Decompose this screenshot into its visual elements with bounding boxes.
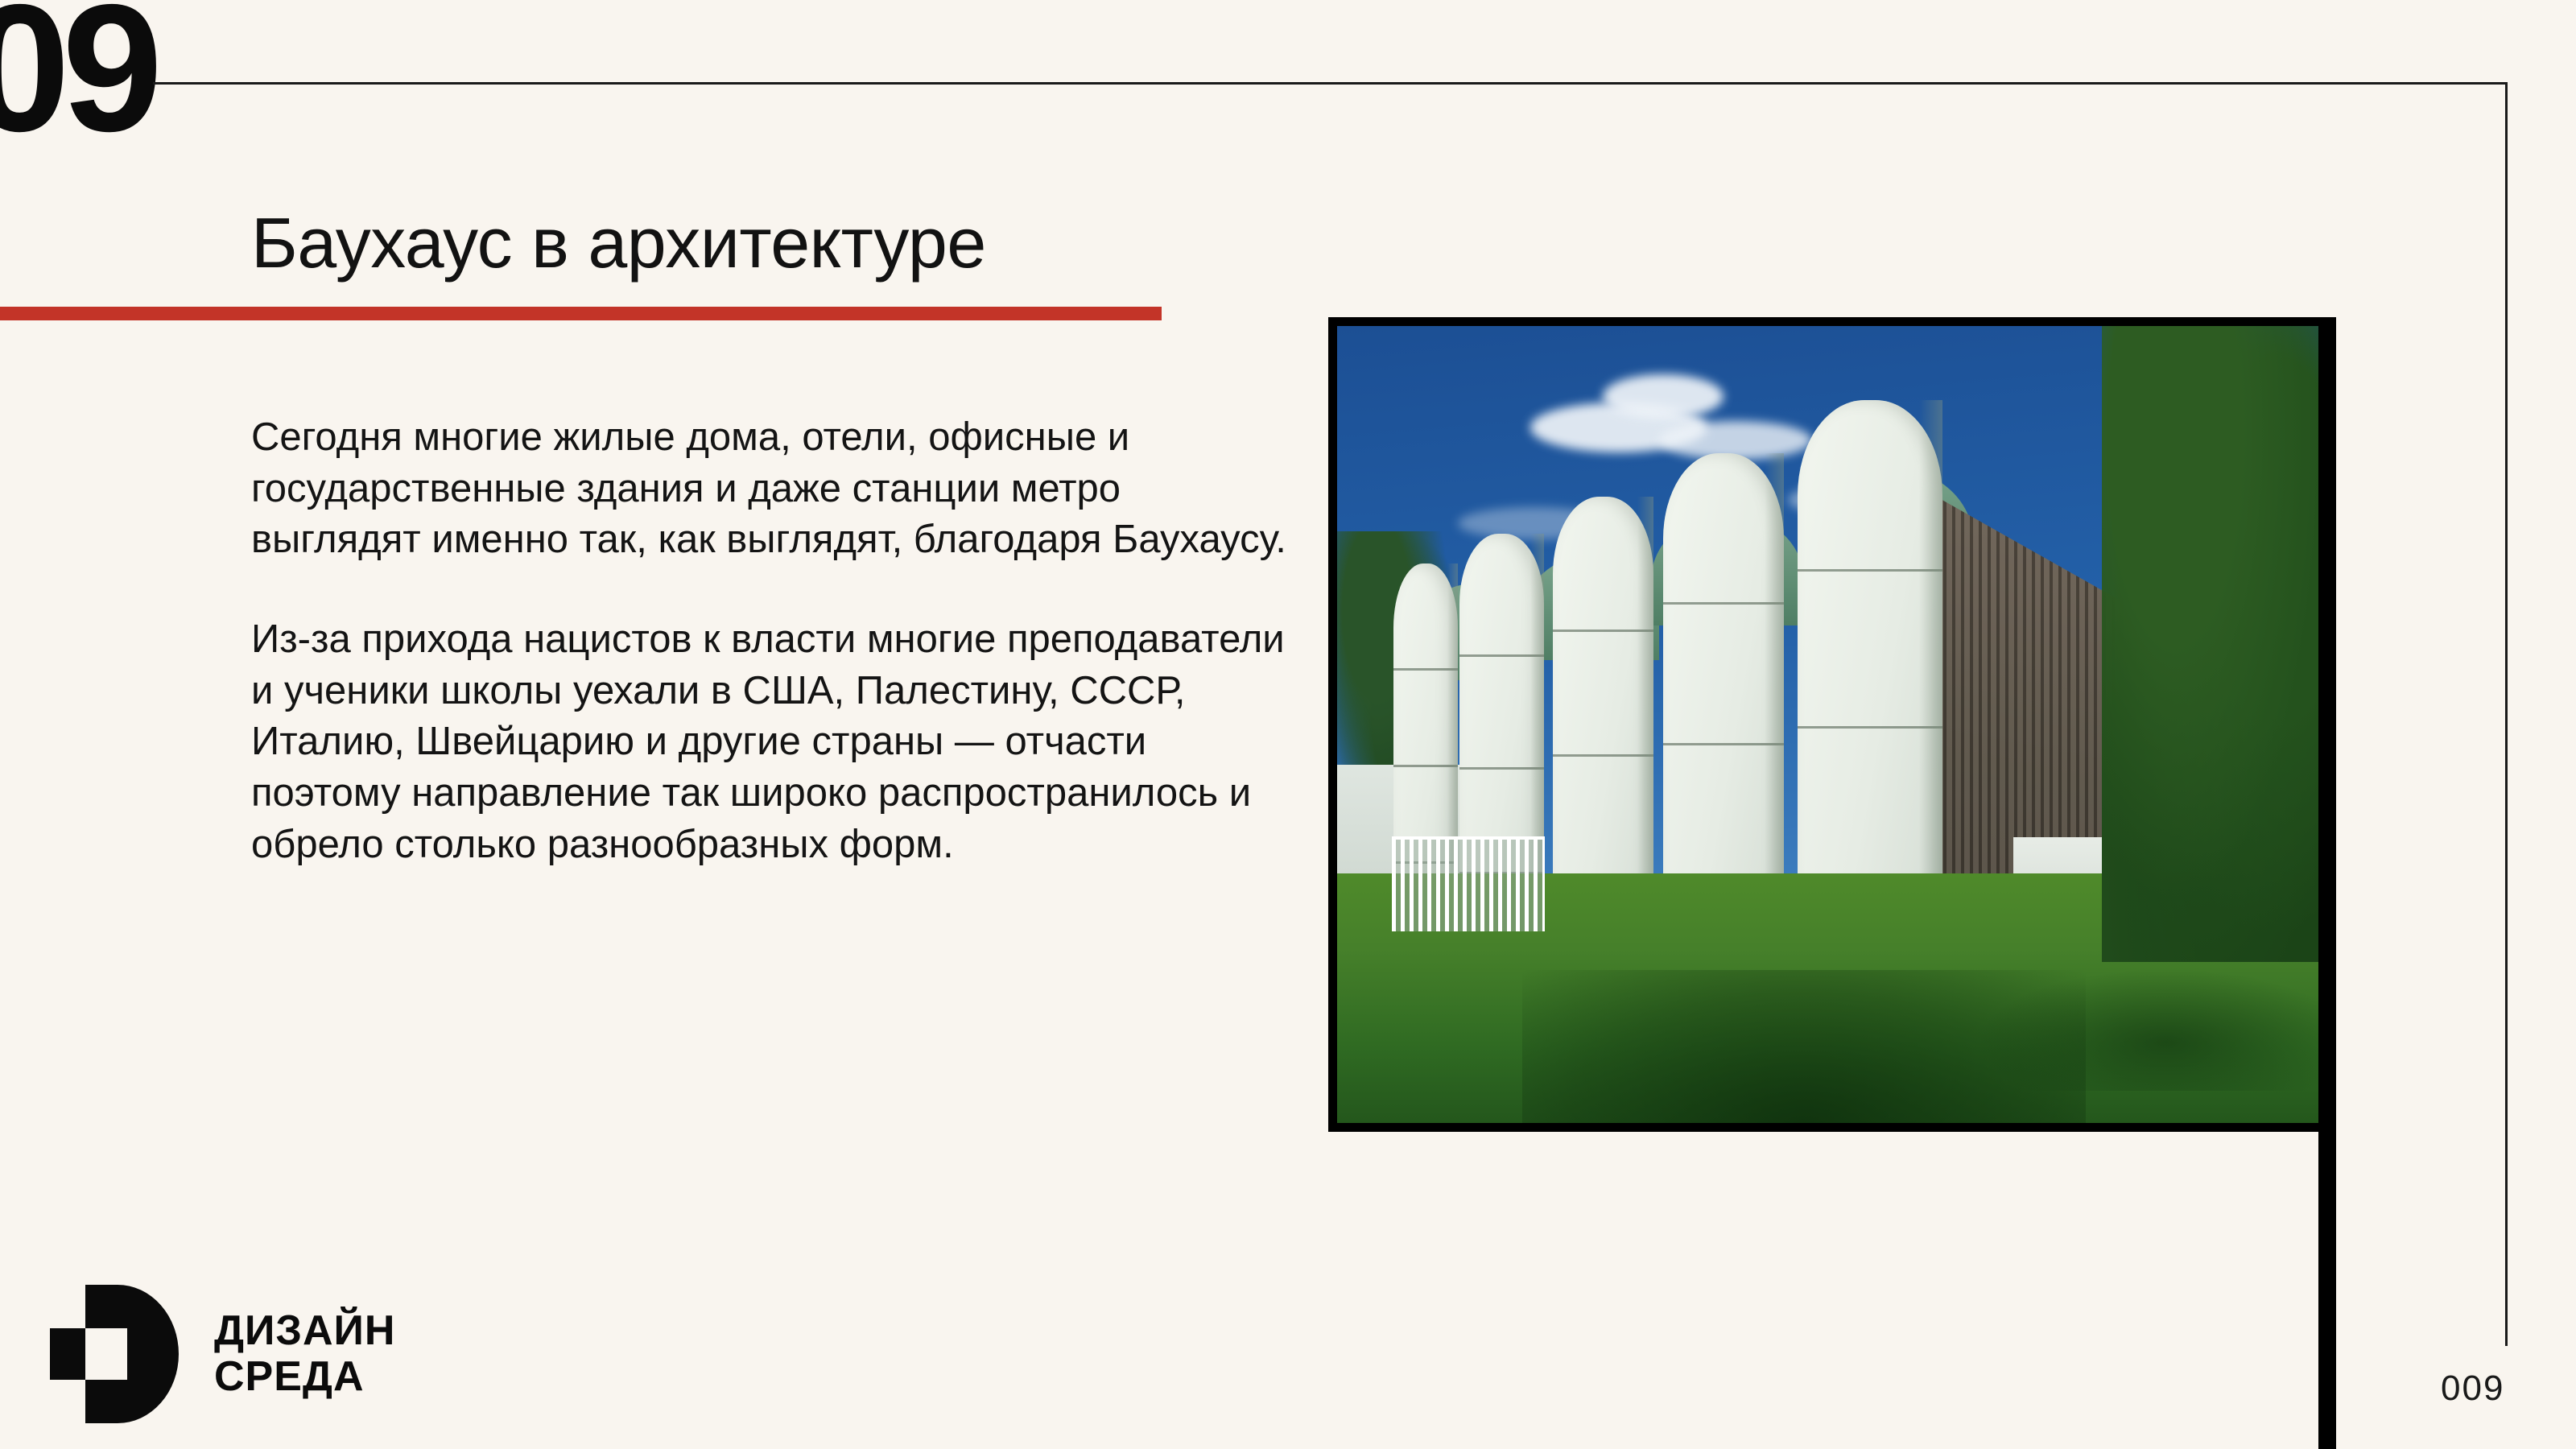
tree-right — [2102, 326, 2327, 962]
paragraph: Сегодня многие жилые дома, отели, офисны… — [251, 412, 1290, 566]
page-title: Баухаус в архитектуре — [251, 206, 986, 280]
slide-number-large: 09 — [0, 0, 155, 159]
frame-top-rule — [153, 82, 2508, 85]
brand-logo: ДИЗАЙН СРЕДА — [50, 1285, 395, 1423]
cloud — [1603, 374, 1724, 419]
brand-logo-text: ДИЗАЙН СРЕДА — [214, 1308, 395, 1400]
white-fence — [1392, 836, 1545, 931]
bauhaus-archive-photo — [1337, 326, 2327, 1123]
brand-logo-line1: ДИЗАЙН — [214, 1308, 395, 1354]
lawn-shadow — [1981, 970, 2327, 1091]
slide-root: 09 Баухаус в архитектуре Сегодня многие … — [0, 0, 2576, 1449]
title-accent-bar — [0, 307, 1162, 320]
brand-logo-line2: СРЕДА — [214, 1354, 395, 1400]
photo-edge-bar — [2318, 317, 2336, 1449]
dizayn-sreda-logo-icon — [50, 1285, 179, 1423]
frame-right-rule — [2505, 82, 2508, 1346]
body-column: Сегодня многие жилые дома, отели, офисны… — [251, 412, 1290, 871]
photo-frame — [1328, 317, 2336, 1132]
paragraph: Из-за прихода нацистов к власти многие п… — [251, 614, 1290, 870]
page-number: 009 — [2441, 1368, 2504, 1409]
